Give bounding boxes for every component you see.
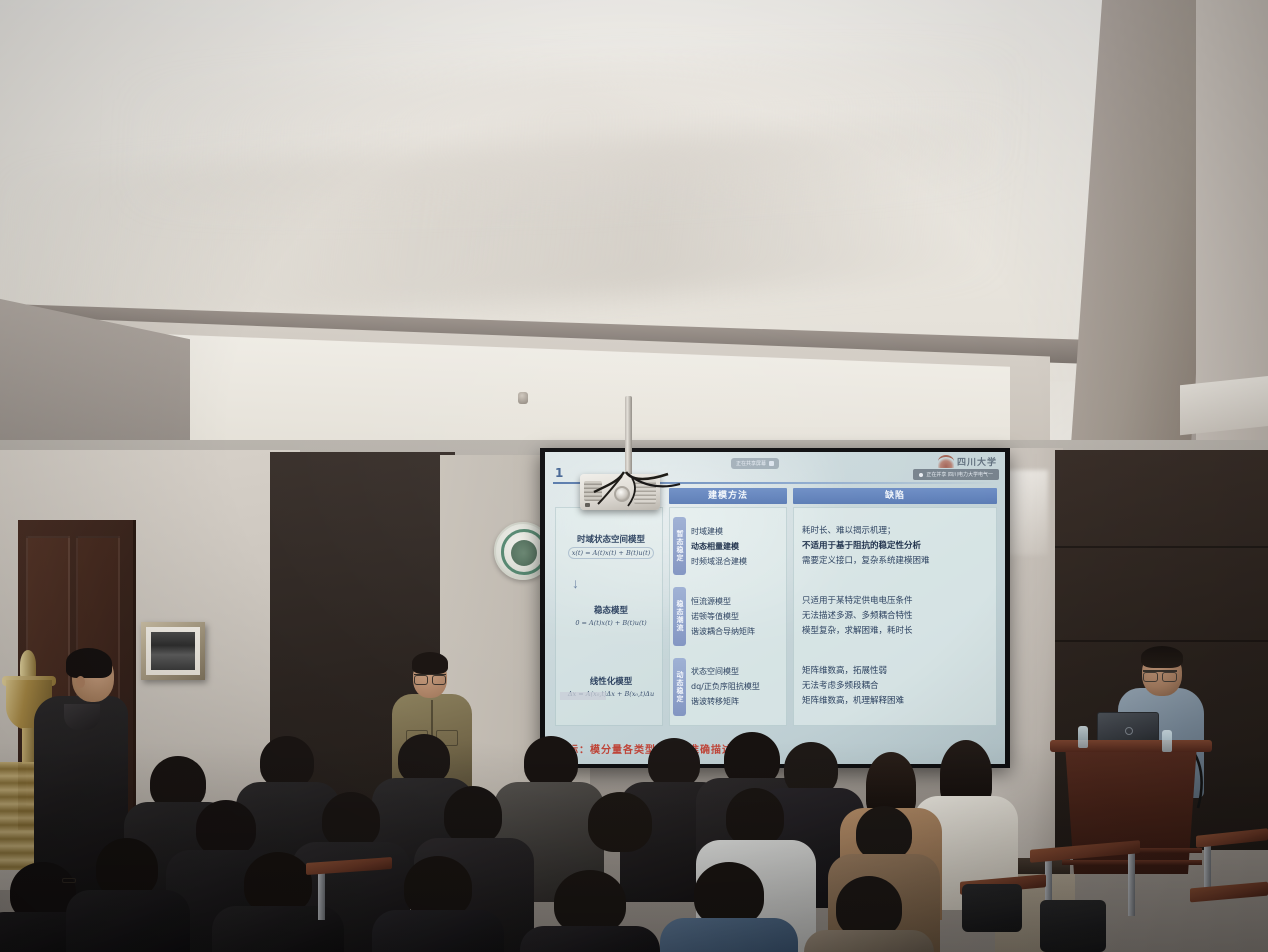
sprinkler-head-icon	[518, 392, 528, 404]
defect-cell: 无法考虑多频段耦合	[800, 679, 994, 694]
table-column-defects: 缺陷 耗时长、难以揭示机理； 不适用于基于阻抗的稳定性分析 需要定义接口，复杂系…	[793, 488, 997, 726]
method-group: 稳态潮流 恒流源模型 诺顿等值模型 谐波耦合导纳矩阵	[672, 581, 784, 651]
models-column-body: 时域状态空间模型 x(t) = A(t)x(t) + B(t)u(t) ↓ 稳态…	[555, 507, 663, 726]
defect-cell: 矩阵维数高，拓展性弱	[800, 664, 994, 679]
frame-mat	[146, 627, 200, 675]
projector-cables	[588, 470, 698, 516]
method-cell: 状态空间模型	[689, 664, 784, 679]
defect-cell: 无法描述多源、多频耦合特性	[800, 609, 994, 624]
defect-items: 耗时长、难以揭示机理； 不适用于基于阻抗的稳定性分析 需要定义接口，复杂系统建模…	[800, 524, 994, 569]
table-column-models: 时域状态空间模型 x(t) = A(t)x(t) + B(t)u(t) ↓ 稳态…	[555, 488, 663, 726]
table-column-methods: 建模方法 暂态稳定 时域建模 动态相量建模 时频域混合建模 稳态潮流	[669, 488, 787, 726]
glasses-icon	[1143, 670, 1177, 678]
method-cell: dq/正负序阻抗模型	[689, 679, 784, 694]
method-cell: 动态相量建模	[689, 539, 784, 554]
method-cell: 谐波耦合导纳矩阵	[689, 624, 784, 639]
screen-share-pill[interactable]: 正在共享屏幕	[731, 458, 779, 469]
model-name: 稳态模型	[562, 604, 660, 616]
defect-cell: 矩阵维数高，机理解释困难	[800, 694, 994, 709]
model-block: 时域状态空间模型 x(t) = A(t)x(t) + B(t)u(t) ↓	[558, 511, 660, 581]
method-group: 暂态稳定 时域建模 动态相量建模 时频域混合建模	[672, 511, 784, 581]
method-items: 时域建模 动态相量建模 时频域混合建模	[689, 524, 784, 569]
category-tab: 稳态潮流	[673, 587, 686, 645]
speaker-hair	[1141, 646, 1183, 668]
model-equation: 0 = A(t)x(t) + B(t)u(t)	[572, 618, 649, 628]
methods-column-body: 暂态稳定 时域建模 动态相量建模 时频域混合建模 稳态潮流 恒流源模型	[669, 507, 787, 726]
university-mark-icon	[938, 455, 954, 468]
chair-back	[1040, 900, 1106, 952]
defect-cell: 耗时长、难以揭示机理；	[800, 524, 994, 539]
photo-image	[151, 632, 195, 670]
slide-title: 1	[555, 466, 564, 480]
desk-leg	[318, 870, 325, 920]
defect-cell: 模型复杂，求解困难，耗时长	[800, 624, 994, 639]
model-block: 线性化模型 Δx = A(x₀,t)Δx + B(x₀,t)Δu	[558, 652, 660, 722]
framed-group-photo	[141, 622, 205, 680]
ceiling	[0, 0, 1268, 470]
emblem-core	[511, 540, 537, 566]
mic-icon	[919, 473, 923, 477]
defect-cell: 需要定义接口，复杂系统建模困难	[800, 554, 994, 569]
method-group: 动态稳定 状态空间模型 dq/正负序阻抗模型 谐波转移矩阵	[672, 652, 784, 722]
method-cell: 恒流源模型	[689, 594, 784, 609]
podium-surface	[1050, 740, 1212, 752]
defect-group: 矩阵维数高，拓展性弱 无法考虑多频段耦合 矩阵维数高，机理解释困难	[796, 652, 994, 722]
defect-items: 只适用于某特定供电电压条件 无法描述多源、多频耦合特性 模型复杂，求解困难，耗时…	[800, 594, 994, 639]
defects-column-header: 缺陷	[793, 488, 997, 504]
share-pill-label: 正在共享屏幕	[736, 460, 766, 467]
defects-column-body: 耗时长、难以揭示机理； 不适用于基于阻抗的稳定性分析 需要定义接口，复杂系统建模…	[793, 507, 997, 726]
glasses-icon	[414, 674, 446, 682]
model-name: 时域状态空间模型	[562, 533, 660, 545]
method-cell: 时域建模	[689, 524, 784, 539]
glasses-icon	[62, 878, 76, 883]
annotation-highlight	[560, 692, 606, 700]
defect-group: 只适用于某特定供电电压条件 无法描述多源、多频耦合特性 模型复杂，求解困难，耗时…	[796, 581, 994, 651]
recording-label: 正在并享 四川电力大学电气一	[926, 471, 993, 478]
comparison-table: 时域状态空间模型 x(t) = A(t)x(t) + B(t)u(t) ↓ 稳态…	[555, 488, 997, 726]
projector-mount-pole	[625, 396, 632, 480]
defect-cell: 不适用于基于阻抗的稳定性分析	[800, 539, 994, 554]
model-equation: x(t) = A(t)x(t) + B(t)u(t)	[568, 547, 655, 559]
university-logo: 四川大学	[938, 455, 997, 468]
desk-leg	[1128, 850, 1135, 916]
share-stop-icon[interactable]	[769, 461, 774, 466]
observer-ear	[76, 676, 85, 688]
lecture-hall-photo: 志 1 正在共享屏幕 四川大学 正在并享 四川电力大学电气一	[0, 0, 1268, 952]
chair-back	[962, 884, 1022, 932]
method-cell: 诺顿等值模型	[689, 609, 784, 624]
water-bottle[interactable]	[1162, 730, 1172, 752]
method-cell: 谐波转移矩阵	[689, 694, 784, 709]
laptop-logo-icon	[1125, 727, 1133, 735]
model-block: 稳态模型 0 = A(t)x(t) + B(t)u(t)	[558, 581, 660, 651]
ceiling-light-strip	[1180, 375, 1268, 436]
defect-group: 耗时长、难以揭示机理； 不适用于基于阻抗的稳定性分析 需要定义接口，复杂系统建模…	[796, 511, 994, 581]
university-name: 四川大学	[957, 455, 997, 468]
presenter-hair	[412, 652, 448, 674]
category-tab: 动态稳定	[673, 658, 686, 716]
water-bottle[interactable]	[1078, 726, 1088, 748]
defect-cell: 只适用于某特定供电电压条件	[800, 594, 994, 609]
method-items: 状态空间模型 dq/正负序阻抗模型 谐波转移矩阵	[689, 664, 784, 709]
recording-status-bar: 正在并享 四川电力大学电气一	[913, 469, 999, 480]
jacket-collar	[64, 704, 100, 730]
observer-hair	[66, 648, 112, 678]
method-items: 恒流源模型 诺顿等值模型 谐波耦合导纳矩阵	[689, 594, 784, 639]
method-cell: 时频域混合建模	[689, 554, 784, 569]
defect-items: 矩阵维数高，拓展性弱 无法考虑多频段耦合 矩阵维数高，机理解释困难	[800, 664, 994, 709]
model-name: 线性化模型	[562, 675, 660, 687]
category-tab: 暂态稳定	[673, 517, 686, 575]
